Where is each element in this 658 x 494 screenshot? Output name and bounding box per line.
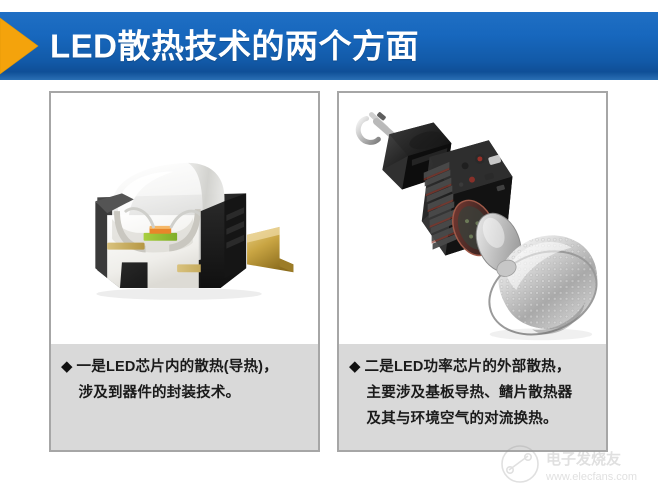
watermark-url-text: www.elecfans.com [545,471,637,483]
caption-line: 涉及到器件的封装技术。 [77,380,310,406]
caption-line: 一是LED芯片内的散热(导热)， [77,354,310,380]
led-lamp-exploded-view-image [339,93,606,348]
page-title: LED散热技术的两个方面 [50,30,419,63]
slide-canvas: LED散热技术的两个方面 [0,0,658,494]
caption-text-right: 二是LED功率芯片的外部散热， 主要涉及基板导热、鳍片散热器 及其与环境空气的对… [365,354,598,432]
bullet-diamond-icon: ◆ [61,354,73,380]
content-panel-left: ◆ 一是LED芯片内的散热(导热)， 涉及到器件的封装技术。 [49,91,320,452]
caption-text-left: 一是LED芯片内的散热(导热)， 涉及到器件的封装技术。 [77,354,310,406]
bullet-diamond-icon: ◆ [349,354,361,380]
caption-box-left: ◆ 一是LED芯片内的散热(导热)， 涉及到器件的封装技术。 [51,344,318,450]
orange-arrow-accent-icon [0,12,40,80]
watermark-brand-text: 电子发烧友 [546,450,621,468]
caption-line: 主要涉及基板导热、鳍片散热器 [365,380,598,406]
led-package-cross-section-image [51,93,318,348]
caption-line: 及其与环境空气的对流换热。 [365,406,598,432]
caption-box-right: ◆ 二是LED功率芯片的外部散热， 主要涉及基板导热、鳍片散热器 及其与环境空气… [339,344,606,450]
content-panel-right: ◆ 二是LED功率芯片的外部散热， 主要涉及基板导热、鳍片散热器 及其与环境空气… [337,91,608,452]
caption-line: 二是LED功率芯片的外部散热， [365,354,598,380]
title-banner: LED散热技术的两个方面 [0,12,658,80]
